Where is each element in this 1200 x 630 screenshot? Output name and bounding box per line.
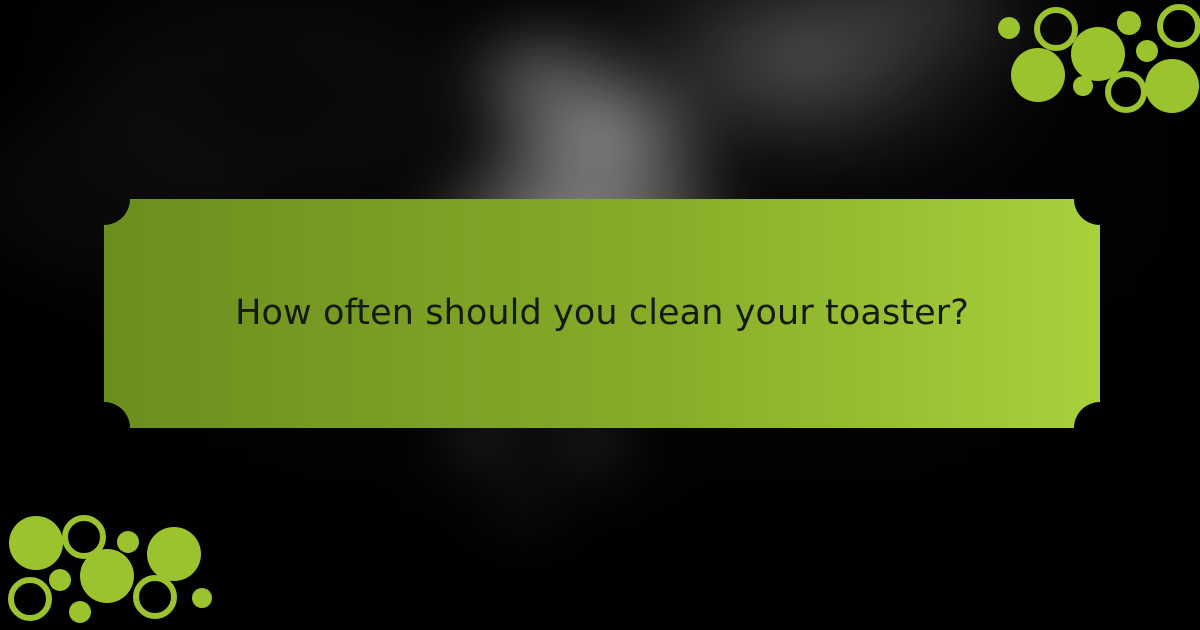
title-banner: How often should you clean your toaster?	[104, 199, 1100, 428]
page-title: How often should you clean your toaster?	[104, 199, 1100, 428]
banner-canvas: How often should you clean your toaster?	[0, 0, 1200, 630]
